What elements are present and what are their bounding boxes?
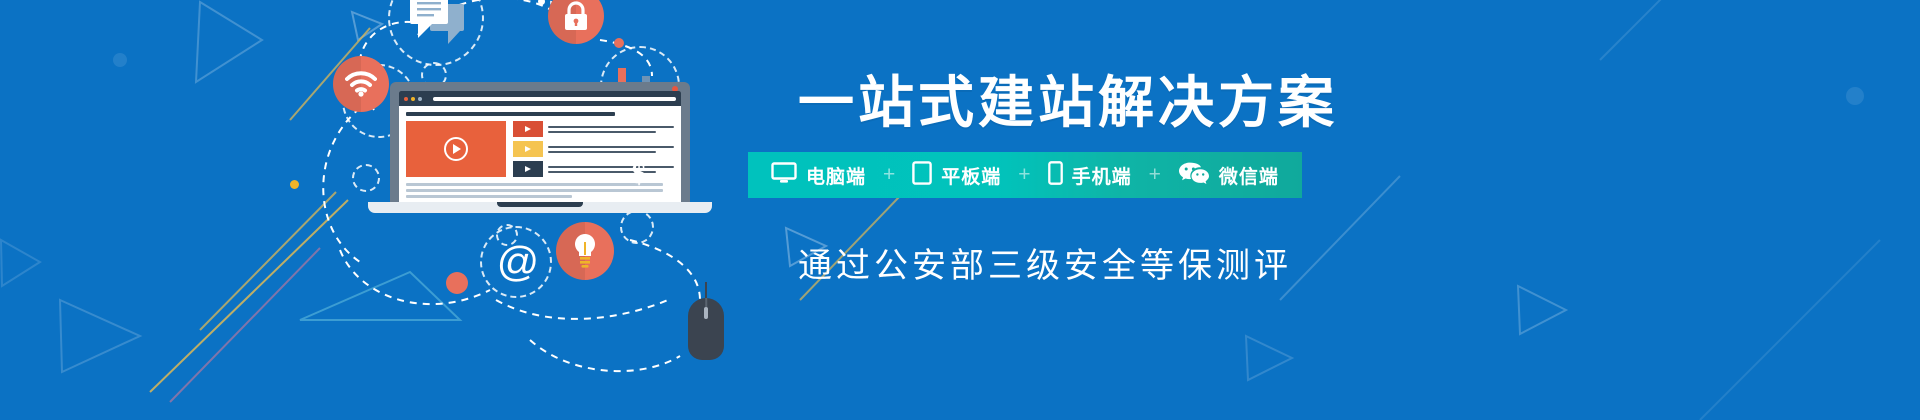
dashed-connector-5 [340, 250, 490, 304]
badge-separator: + [1008, 163, 1040, 187]
badge-separator: + [1139, 163, 1171, 187]
accent-dot-2 [614, 38, 624, 48]
wechat-icon [1178, 161, 1210, 190]
browser-dot-gray [418, 97, 422, 101]
badge-label-desktop: 电脑端 [806, 162, 866, 189]
badge-label-wechat: 微信端 [1219, 162, 1279, 189]
accent-dot-1 [446, 272, 468, 294]
svg-text:@: @ [497, 240, 540, 284]
browser-dot-yellow [411, 97, 415, 101]
svg-text:$: $ [632, 157, 647, 190]
browser-url-bar [433, 97, 676, 101]
thumbnail-yellow [513, 141, 543, 157]
triangle-outline-1 [196, 2, 262, 82]
badge-item-desktop[interactable]: 电脑端 [764, 162, 873, 189]
triangle-outline-3 [60, 300, 140, 372]
platform-badge-bar: 电脑端 + 平板端 + 手机端 + [748, 152, 1302, 198]
white-diagonal-2 [1600, 0, 1760, 60]
laptop-mockup [390, 82, 690, 217]
bg-dot-1 [1846, 87, 1864, 105]
pink-diagonal-1 [170, 248, 320, 402]
play-button-icon [444, 137, 468, 161]
chat-bubble-icon [408, 0, 472, 53]
at-sign-icon: @ [496, 240, 540, 289]
tablet-icon [912, 161, 932, 190]
page-heading-line [406, 112, 615, 116]
wifi-icon [333, 56, 389, 112]
browser-chrome-bar [399, 91, 681, 106]
video-hero-card [406, 121, 506, 177]
hero-text-block: 一站式建站解决方案 电脑端 + 平板端 [780, 0, 1540, 420]
mobile-phone-icon [1048, 161, 1063, 190]
badge-separator: + [873, 163, 905, 187]
desktop-monitor-icon [771, 162, 797, 189]
list-item [513, 121, 674, 137]
page-subtitle: 通过公安部三级安全等保测评 [798, 238, 1292, 287]
computer-mouse-icon [688, 298, 724, 360]
thumbnail-red [513, 121, 543, 137]
dashed-connector-8 [630, 240, 700, 300]
dashed-connector-6 [496, 300, 668, 319]
lightbulb-icon [556, 222, 614, 280]
laptop-base [368, 202, 712, 213]
bg-dot-2 [113, 53, 127, 67]
hero-banner: $ @ [0, 0, 1920, 420]
badge-label-tablet: 平板端 [941, 162, 1001, 189]
badge-item-tablet[interactable]: 平板端 [905, 161, 1008, 190]
dashed-connector-7 [530, 340, 680, 371]
thumbnail-navy [513, 161, 543, 177]
triangle-outline-4 [1, 240, 40, 286]
page-title: 一站式建站解决方案 [798, 58, 1338, 139]
badge-item-wechat[interactable]: 微信端 [1171, 161, 1286, 190]
dashed-ring-small-2 [352, 164, 380, 192]
browser-dot-red [404, 97, 408, 101]
accent-dot-4 [290, 180, 299, 189]
list-item [513, 141, 674, 157]
badge-label-mobile: 手机端 [1072, 162, 1132, 189]
white-diagonal-3 [1700, 240, 1880, 420]
badge-item-mobile[interactable]: 手机端 [1041, 161, 1139, 190]
hero-illustration: $ @ [300, 0, 780, 420]
